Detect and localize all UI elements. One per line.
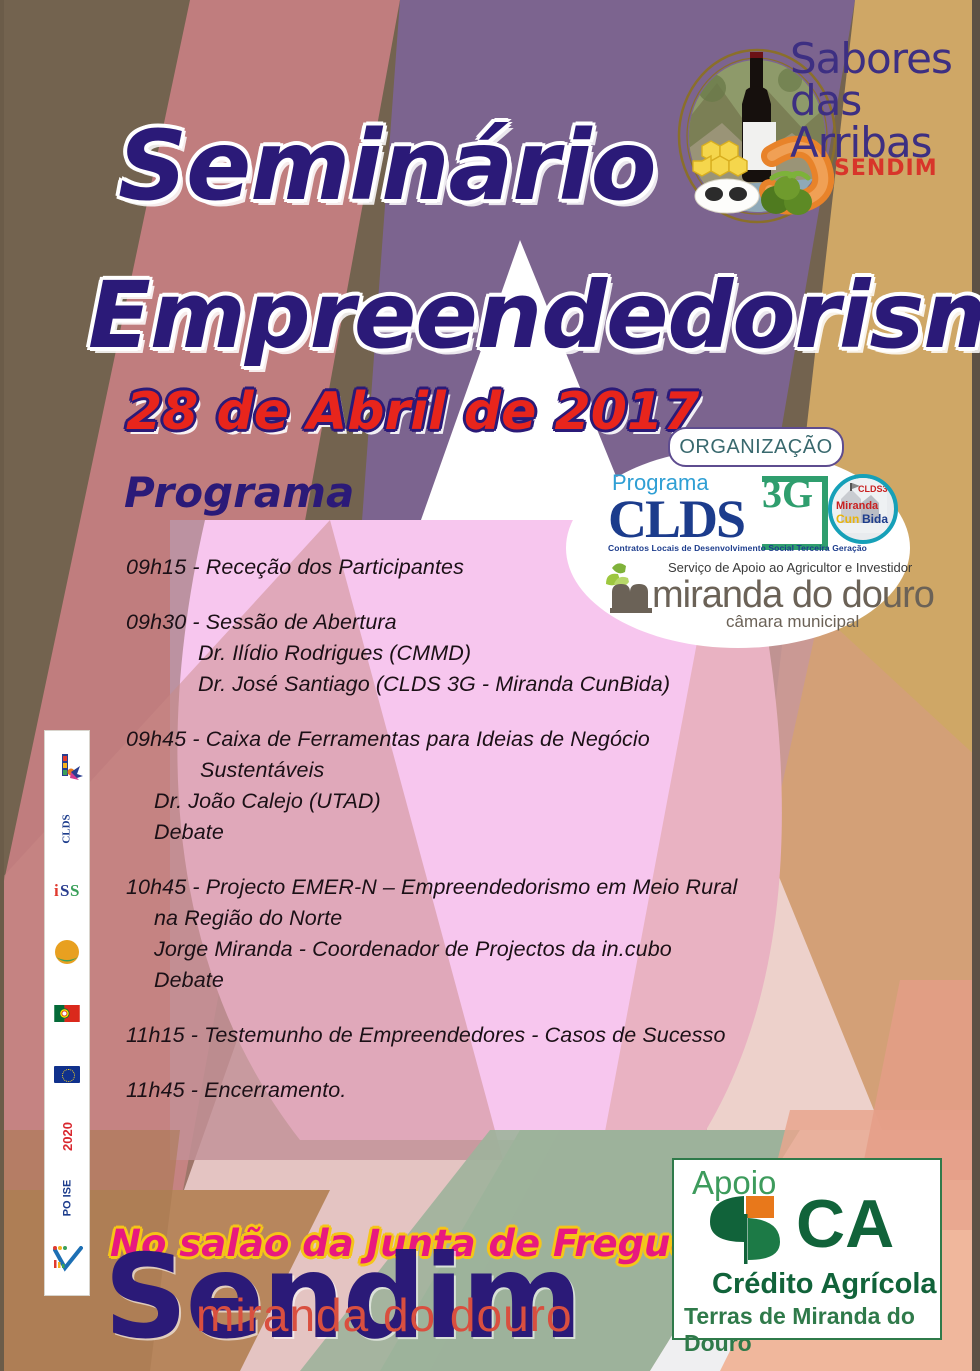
camara-name-label: miranda do douro [652, 574, 934, 617]
credito-agricola-leaf-icon [702, 1188, 788, 1266]
cheese-icon [695, 179, 759, 213]
po-ise-logo: PO ISE [47, 1168, 87, 1228]
svg-text:i: i [54, 881, 59, 900]
clds-3g-strip-logo: CLDS [47, 799, 87, 859]
program-line: Dr. José Santiago (CLDS 3G - Miranda Cun… [126, 669, 806, 700]
program-line: Debate [126, 965, 806, 996]
iss-seguranca-social-logo: i S S [47, 860, 87, 920]
ca-acronym: CA [796, 1190, 894, 1258]
sabores-line1: Sabores [790, 38, 952, 80]
apoio-credito-agricola-panel: Apoio CA Crédito Agrícola Terras de Mira… [672, 1158, 942, 1340]
program-block: 10h45 - Projecto EMER-N – Empreendedoris… [126, 872, 806, 996]
credito-agricola-region: Terras de Miranda do Douro [684, 1303, 940, 1357]
uniao-europeia-flag [47, 1045, 87, 1105]
program-block: 09h45 - Caixa de Ferramentas para Ideias… [126, 724, 806, 848]
clds-strip-label: CLDS [61, 814, 73, 843]
program-line: 11h15 - Testemunho de Empreendedores - C… [126, 1020, 806, 1051]
program-line: 09h45 - Caixa de Ferramentas para Ideias… [126, 724, 806, 755]
program-block: 11h15 - Testemunho de Empreendedores - C… [126, 1020, 806, 1051]
sabores-das-arribas-logo: Sabores das Arribas SENDIM [672, 28, 972, 238]
event-date: 28 de Abril de 2017 [126, 382, 699, 442]
svg-text:S: S [60, 881, 69, 900]
program-line: Dr. João Calejo (UTAD) [126, 786, 806, 817]
republica-portuguesa-flag [47, 983, 87, 1043]
poster-canvas: Seminário Empreendedorismo 28 de Abril d… [0, 0, 980, 1371]
page-title-line2: Empreendedorismo [88, 262, 980, 369]
program-line: na Região do Norte [126, 903, 806, 934]
organizacao-badge: ORGANIZAÇÃO [668, 427, 844, 467]
program-line: Sustentáveis [126, 755, 806, 786]
program-line: 11h45 - Encerramento. [126, 1075, 806, 1106]
solidariedade-social-logo [47, 922, 87, 982]
po-ise-symbol-icon [47, 1229, 87, 1289]
section-heading-programa: Programa [124, 468, 354, 517]
sabores-line2: das [790, 80, 952, 122]
program-line: 10h45 - Projecto EMER-N – Empreendedoris… [126, 872, 806, 903]
program-line: Debate [126, 817, 806, 848]
camara-service-label: Serviço de Apoio ao Agricultor e Investi… [668, 560, 912, 575]
sabores-sendim: SENDIM [834, 156, 938, 181]
credito-agricola-name: Crédito Agrícola [712, 1268, 937, 1301]
camara-municipal-logo: Serviço de Apoio ao Agricultor e Investi… [566, 448, 910, 648]
portugal-2020-logo: 2020 [47, 1106, 87, 1166]
venue-region: miranda do douro [196, 1288, 573, 1342]
cruz-vermelha-portuguesa-logo [47, 737, 87, 797]
organizacao-panel: Programa CLDS 3G Contratos Locais de Des… [566, 448, 910, 648]
camara-subtitle-label: câmara municipal [726, 612, 859, 632]
organizacao-label: ORGANIZAÇÃO [679, 436, 832, 459]
program-line: Jorge Miranda - Coordenador de Projectos… [126, 934, 806, 965]
page-title-line1: Seminário [118, 110, 656, 222]
program-block: 11h45 - Encerramento. [126, 1075, 806, 1106]
funding-logos-strip: CLDS i S S [44, 730, 90, 1296]
svg-text:S: S [70, 881, 79, 900]
